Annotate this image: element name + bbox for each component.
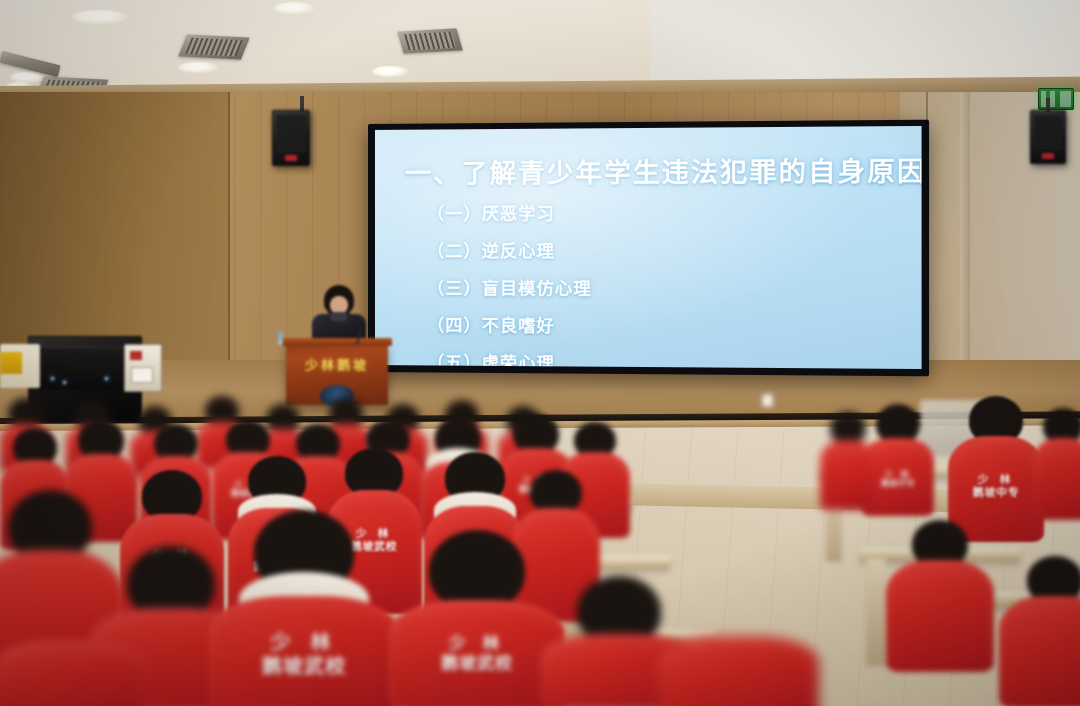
slide-bullet-list: （一）厌恶学习 （二）逆反心理 （三）盲目模仿心理 （四）不良嗜好 （五）虚荣心…	[427, 198, 911, 369]
air-vent-icon	[397, 28, 462, 53]
podium-label: 少林鹅坡	[286, 355, 388, 374]
slide-bullet-item: （三）盲目模仿心理	[427, 274, 911, 301]
downlight-icon	[372, 66, 408, 77]
slide-bullet-item: （二）逆反心理	[427, 237, 911, 263]
auditorium-scene: 一、了解青少年学生违法犯罪的自身原因 （一）厌恶学习 （二）逆反心理 （三）盲目…	[0, 0, 1080, 706]
student	[1036, 408, 1080, 518]
student	[664, 636, 814, 706]
wall-seam	[228, 92, 230, 392]
downlight-icon	[178, 62, 218, 73]
loudspeaker-icon	[272, 110, 310, 166]
wall-pillar	[960, 92, 970, 392]
wall-control-panel	[124, 344, 162, 392]
student	[1000, 556, 1080, 706]
slide-bullet-item: （五）虚荣心理	[427, 348, 911, 369]
power-outlet-icon	[762, 394, 773, 407]
slide-title: 一、了解青少年学生违法犯罪的自身原因	[405, 151, 911, 191]
podium: 少林鹅坡	[286, 343, 388, 405]
exit-sign-icon	[1038, 88, 1074, 110]
student: 少 林 鹅坡武校	[214, 510, 394, 706]
loudspeaker-icon	[1030, 110, 1066, 164]
student: 少 林 鹅坡武校	[392, 530, 562, 706]
projection-screen: 一、了解青少年学生违法犯罪的自身原因 （一）厌恶学习 （二）逆反心理 （三）盲目…	[375, 126, 922, 369]
student	[820, 412, 876, 508]
slide-bullet-item: （一）厌恶学习	[427, 198, 911, 225]
bench-desk-side	[866, 558, 886, 666]
student	[0, 640, 140, 706]
air-vent-icon	[178, 34, 250, 59]
student	[886, 520, 994, 670]
slide-bullet-item: （四）不良嗜好	[427, 311, 911, 339]
yellow-equipment-case	[0, 352, 22, 374]
downlight-icon	[72, 10, 128, 24]
downlight-icon	[274, 2, 314, 14]
projection-screen-frame: 一、了解青少年学生违法犯罪的自身原因 （一）厌恶学习 （二）逆反心理 （三）盲目…	[368, 120, 929, 377]
water-bottle	[278, 331, 283, 345]
